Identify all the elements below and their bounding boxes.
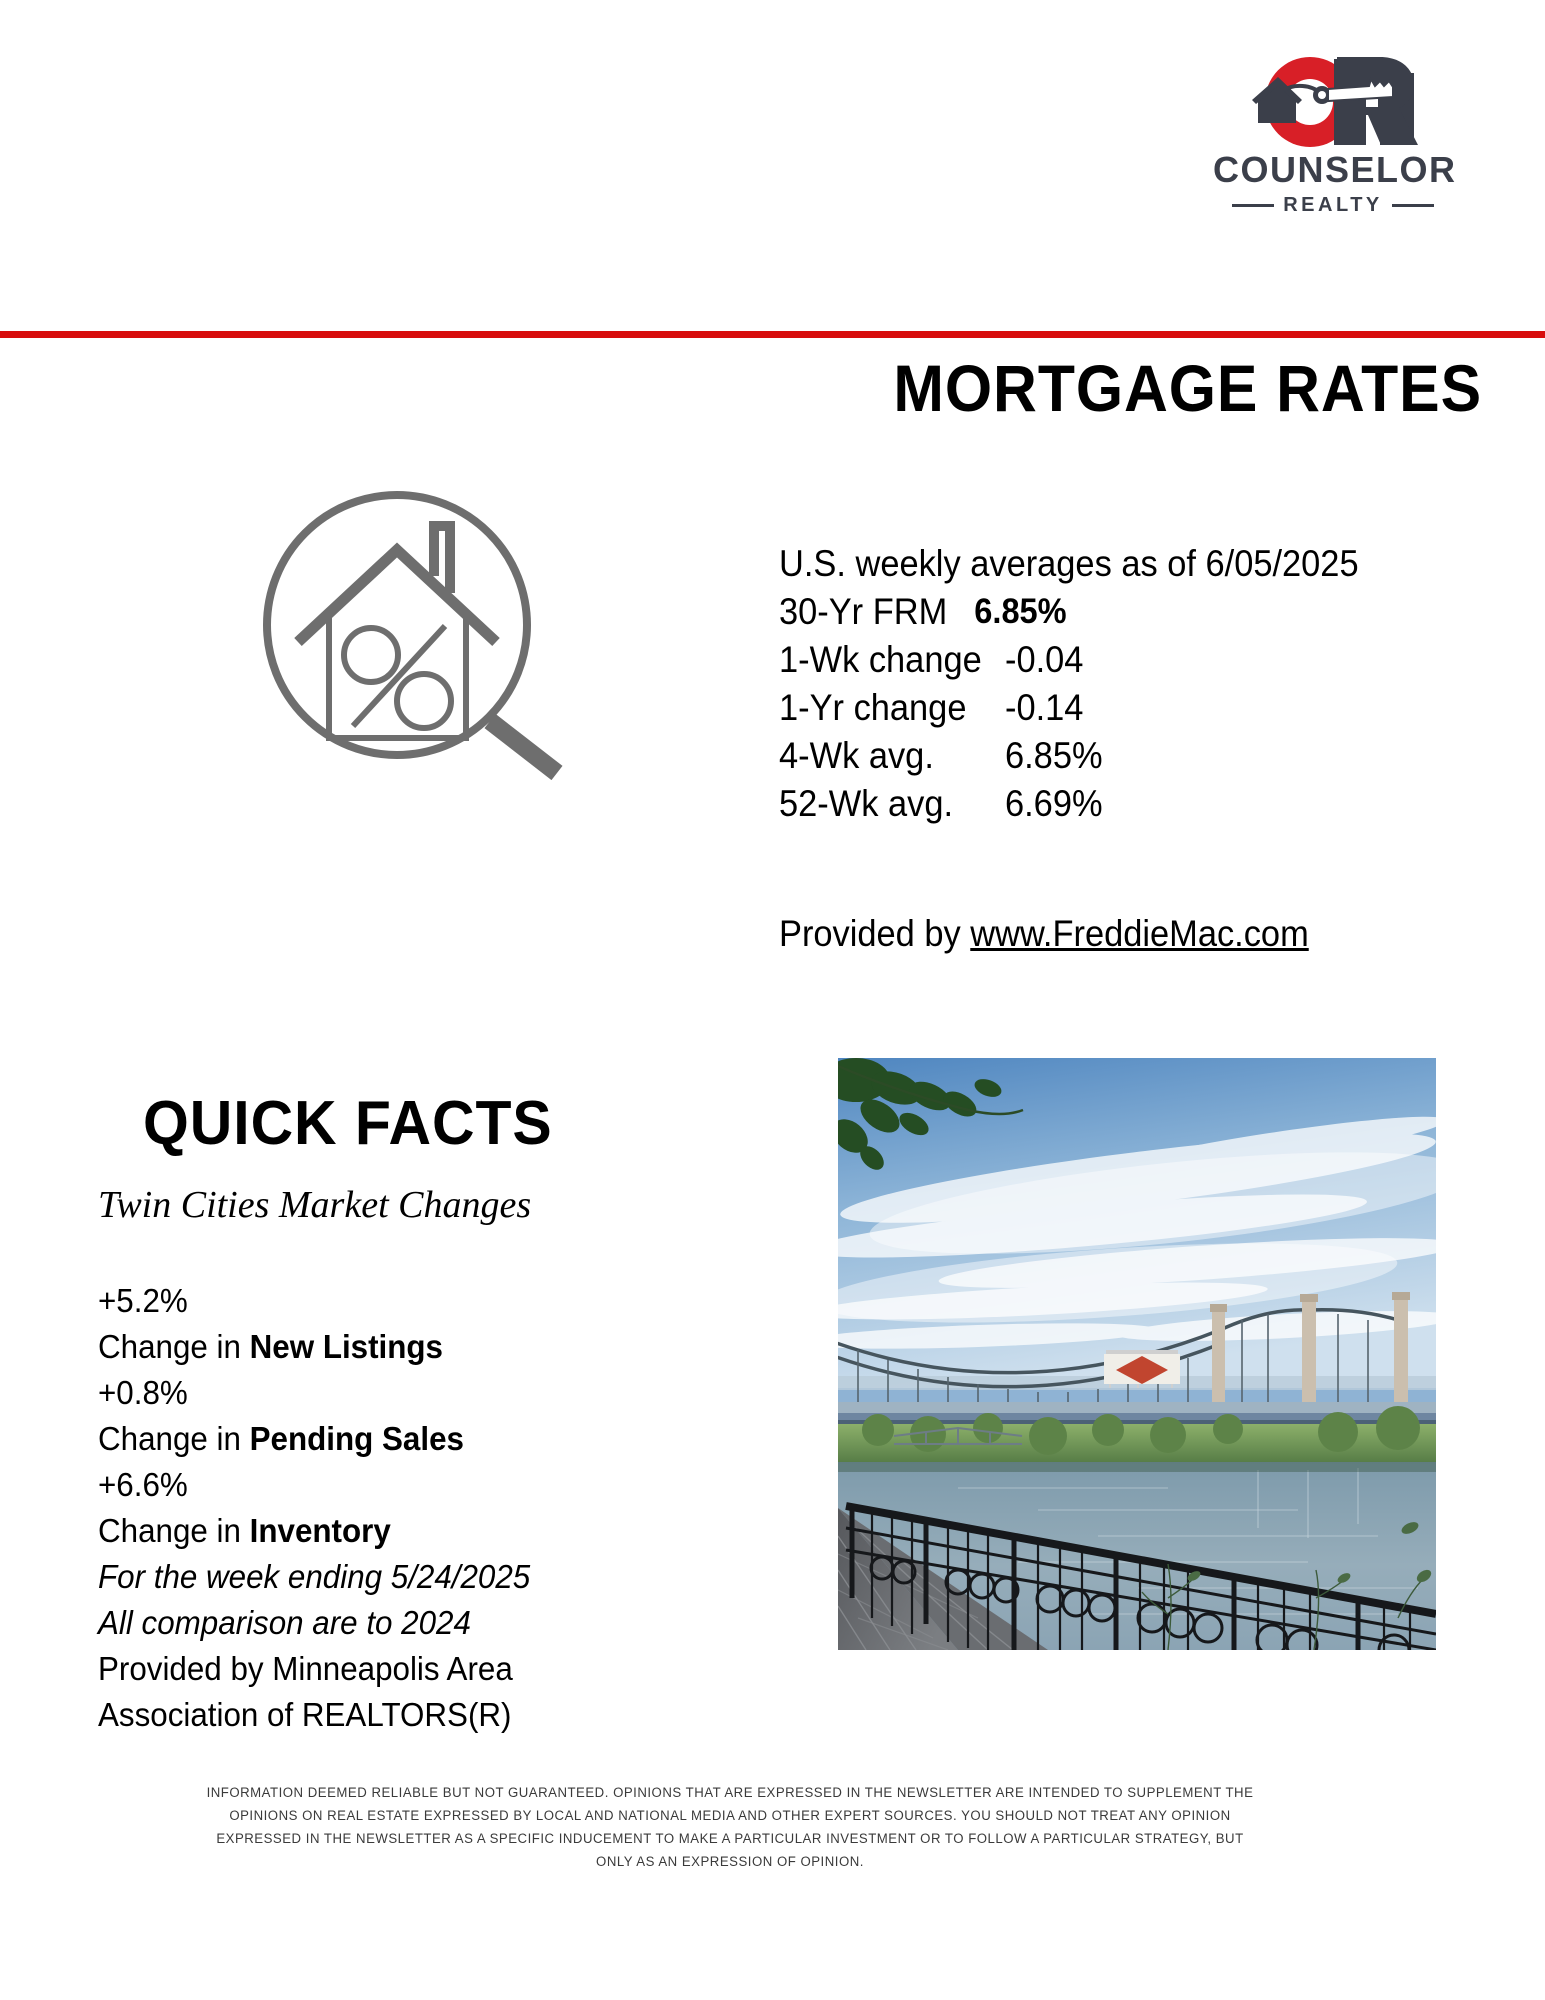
fact-metric: Pending Sales [250, 1420, 464, 1457]
rate-value: 6.85% [974, 588, 1066, 636]
rate-label: 1-Yr change [779, 684, 1005, 732]
fact-value: +5.2% [98, 1278, 706, 1324]
rate-label: 52-Wk avg. [779, 780, 1005, 828]
fact-source-line-1: Provided by Minneapolis Area [98, 1646, 706, 1692]
legal-disclaimer: INFORMATION DEEMED RELIABLE BUT NOT GUAR… [200, 1782, 1260, 1874]
fact-note-week: For the week ending 5/24/2025 [98, 1554, 706, 1600]
logo-wordmark: COUNSELOR [1213, 152, 1453, 188]
rate-value: 6.85% [1005, 732, 1103, 780]
fact-metric: New Listings [250, 1328, 443, 1365]
rate-row-1wk-change: 1-Wk change -0.04 [779, 636, 1411, 684]
logo-tagline: REALTY [1283, 194, 1383, 217]
tagline-rule-left [1232, 204, 1274, 207]
fact-metric: Inventory [250, 1512, 391, 1549]
quick-facts-list: +5.2% Change in New Listings +0.8% Chang… [98, 1278, 738, 1738]
riverfront-bridge-photo [838, 1058, 1436, 1650]
logo-mark [1213, 55, 1453, 150]
mortgage-rates-table: U.S. weekly averages as of 6/05/2025 30-… [779, 540, 1459, 828]
freddiemac-link[interactable]: www.FreddieMac.com [970, 913, 1308, 954]
quick-facts-title: QUICK FACTS [143, 1088, 553, 1159]
rates-heading: U.S. weekly averages as of 6/05/2025 [779, 540, 1411, 588]
rate-label: 30-Yr FRM [779, 588, 974, 636]
rate-value: -0.04 [1005, 636, 1083, 684]
rate-label: 4-Wk avg. [779, 732, 1005, 780]
rate-value: -0.14 [1005, 684, 1083, 732]
fact-prefix: Change in [98, 1512, 250, 1549]
mortgage-rates-title: MORTGAGE RATES [119, 350, 1482, 426]
tagline-rule-right [1392, 204, 1434, 207]
fact-label-new-listings: Change in New Listings [98, 1324, 706, 1370]
gold-medal-flour-sign [1104, 1350, 1180, 1388]
fact-prefix: Change in [98, 1328, 250, 1365]
cr-monogram-icon [1238, 55, 1428, 150]
provided-by-label: Provided by [779, 913, 970, 954]
header-divider [0, 331, 1545, 338]
bridge-photo-illustration [838, 1058, 1436, 1650]
fact-note-comparison: All comparison are to 2024 [98, 1600, 706, 1646]
rate-label: 1-Wk change [779, 636, 1005, 684]
fact-prefix: Change in [98, 1420, 250, 1457]
fact-value: +6.6% [98, 1462, 706, 1508]
rate-row-52wk-avg: 52-Wk avg. 6.69% [779, 780, 1411, 828]
house-percent-magnifier-icon [252, 490, 582, 780]
logo-tagline-row: REALTY [1213, 194, 1453, 217]
rate-row-30yr-frm: 30-Yr FRM 6.85% [779, 588, 1411, 636]
fact-value: +0.8% [98, 1370, 706, 1416]
fact-source-line-2: Association of REALTORS(R) [98, 1692, 706, 1738]
quick-facts-subtitle: Twin Cities Market Changes [98, 1183, 531, 1227]
brand-logo: COUNSELOR REALTY [1213, 55, 1453, 205]
rate-row-1yr-change: 1-Yr change -0.14 [779, 684, 1411, 732]
rate-row-4wk-avg: 4-Wk avg. 6.85% [779, 732, 1411, 780]
rate-value: 6.69% [1005, 780, 1103, 828]
fact-label-inventory: Change in Inventory [98, 1508, 706, 1554]
freddie-mac-attribution: Provided by www.FreddieMac.com [779, 913, 1309, 955]
fact-label-pending-sales: Change in Pending Sales [98, 1416, 706, 1462]
